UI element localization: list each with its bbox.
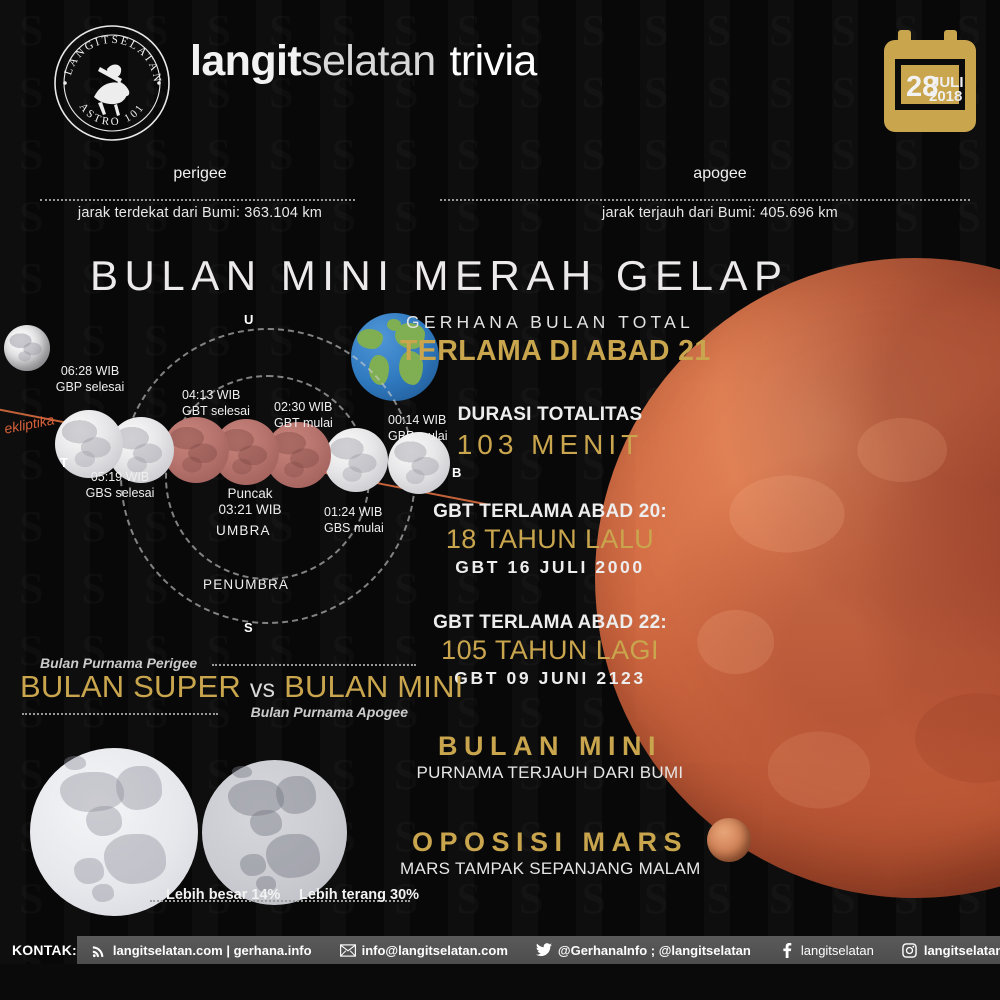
perigee-distance: jarak terdekat dari Bumi: 363.104 km xyxy=(60,205,340,221)
brand-title: langitselatantrivia xyxy=(190,37,537,86)
instagram-icon xyxy=(902,942,918,958)
footer-item-instagram[interactable]: langitselatanmedia xyxy=(888,942,1000,958)
stat-block-century-20: GBT TERLAMA ABAD 20: 18 TAHUN LALU GBT 1… xyxy=(400,501,700,578)
perigee-caption: Bulan Purnama Perigee xyxy=(20,655,420,671)
oposisi-mars-sub: MARS TAMPAK SEPANJANG MALAM xyxy=(400,859,700,879)
comparison-title-left: BULAN SUPER xyxy=(20,669,241,704)
footer-item-website[interactable]: langitselatan.com | gerhana.info xyxy=(77,942,326,958)
stat-lebih-terang: Lebih terang 30% xyxy=(299,887,419,903)
footer-item-instagram-text: langitselatanmedia xyxy=(924,943,1000,958)
moon-phase-gbs-mulai xyxy=(324,428,388,492)
right-info-column: GERHANA BULAN TOTAL TERLAMA DI ABAD 21 D… xyxy=(400,312,700,879)
perigee-title: perigee xyxy=(100,165,300,183)
calendar-icon: 28 JULI 2018 xyxy=(882,28,978,134)
orbit-line-right xyxy=(440,199,970,201)
phase-label-gbt-selesai: 04:13 WIBGBT selesai xyxy=(182,388,250,419)
phase-label-gbt-mulai: 02:30 WIBGBT mulai xyxy=(274,400,333,431)
century22-value: 105 TAHUN LAGI xyxy=(400,635,700,666)
direction-marker-t: T xyxy=(60,455,68,470)
facebook-icon xyxy=(779,942,795,958)
kontak-label: KONTAK: xyxy=(0,942,77,958)
footer-item-website-text: langitselatan.com | gerhana.info xyxy=(113,943,312,958)
svg-text:2018: 2018 xyxy=(929,88,962,105)
highlight-bulan-mini: BULAN MINI PURNAMA TERJAUH DARI BUMI xyxy=(400,731,700,783)
peak-label: Puncak03:21 WIB xyxy=(190,486,310,517)
comparison-title: BULAN SUPER vs BULAN MINI xyxy=(20,669,420,705)
highlight-oposisi-mars: OPOSISI MARS MARS TAMPAK SEPANJANG MALAM xyxy=(400,827,700,879)
header: LANGITSELATAN ASTRO 101 langitselatan xyxy=(0,0,1000,150)
footer-item-email[interactable]: info@langitselatan.com xyxy=(326,942,522,958)
minimoon-disc xyxy=(202,760,347,905)
orbit-distance-row: perigee jarak terdekat dari Bumi: 363.10… xyxy=(0,155,1000,245)
eclipse-eyebrow: GERHANA BULAN TOTAL xyxy=(400,312,700,333)
phase-label-gbp-selesai: 06:28 WIBGBP selesai xyxy=(25,364,155,395)
brand-langit: langit xyxy=(190,37,301,85)
bulan-mini-title: BULAN MINI xyxy=(400,731,700,762)
footer-item-facebook-text: langitselatan xyxy=(801,943,874,958)
duration-head: DURASI TOTALITAS xyxy=(400,404,700,426)
footer-item-email-text: info@langitselatan.com xyxy=(362,943,508,958)
comparison-vs: vs xyxy=(250,675,275,703)
footer-contact-bar: KONTAK: langitselatan.com | gerhana.info… xyxy=(0,936,1000,964)
oposisi-mars-title: OPOSISI MARS xyxy=(400,827,700,858)
apogee-caption: Bulan Purnama Apogee xyxy=(20,704,420,720)
infographic-canvas: SSSSSSSSSSSSSSSSSSSSSSSSSSSSSSSSSSSSSSSS… xyxy=(0,0,1000,1000)
apogee-title: apogee xyxy=(620,165,820,183)
century20-head: GBT TERLAMA ABAD 20: xyxy=(400,501,700,523)
direction-marker-s: S xyxy=(244,620,253,635)
phase-label-gbs-selesai: 05:19 WIBGBS selesai xyxy=(55,470,185,501)
footer-item-facebook[interactable]: langitselatan xyxy=(765,942,888,958)
rss-icon xyxy=(91,942,107,958)
stat-lebih-besar: Lebih besar 14% xyxy=(166,887,280,903)
direction-marker-u: U xyxy=(244,312,253,327)
page-title: BULAN MINI MERAH GELAP xyxy=(90,252,710,300)
langitselatan-logo: LANGITSELATAN ASTRO 101 xyxy=(52,23,172,143)
stat-block-duration: DURASI TOTALITAS 103 MENIT xyxy=(400,404,700,461)
umbra-label: UMBRA xyxy=(216,523,271,538)
century22-head: GBT TERLAMA ABAD 22: xyxy=(400,612,700,634)
footer-item-twitter-text: @GerhanaInfo ; @langitselatan xyxy=(558,943,751,958)
supermoon-comparison-heading: Bulan Purnama Perigee BULAN SUPER vs BUL… xyxy=(20,655,420,720)
eclipse-headline: TERLAMA DI ABAD 21 xyxy=(400,335,700,368)
footer-background xyxy=(0,964,1000,1000)
apogee-distance: jarak terjauh dari Bumi: 405.696 km xyxy=(580,205,860,221)
footer-links: langitselatan.com | gerhana.info info@la… xyxy=(77,936,1000,964)
orbit-line-left xyxy=(40,199,355,201)
mail-icon xyxy=(340,942,356,958)
phase-label-gbs-mulai: 01:24 WIBGBS mulai xyxy=(324,505,384,536)
brand-selatan: selatan xyxy=(301,37,435,85)
brand-trivia: trivia xyxy=(450,37,537,85)
duration-value: 103 MENIT xyxy=(400,429,700,461)
mars-icon xyxy=(707,818,751,862)
footer-item-twitter[interactable]: @GerhanaInfo ; @langitselatan xyxy=(522,942,765,958)
penumbra-label: PENUMBRA xyxy=(203,577,289,592)
twitter-icon xyxy=(536,942,552,958)
bulan-mini-sub: PURNAMA TERJAUH DARI BUMI xyxy=(400,763,700,783)
ecliptic-label: ekliptika xyxy=(3,411,56,436)
century20-date: GBT 16 JULI 2000 xyxy=(400,557,700,578)
comparison-title-right: BULAN MINI xyxy=(284,669,463,704)
century20-value: 18 TAHUN LALU xyxy=(400,524,700,555)
